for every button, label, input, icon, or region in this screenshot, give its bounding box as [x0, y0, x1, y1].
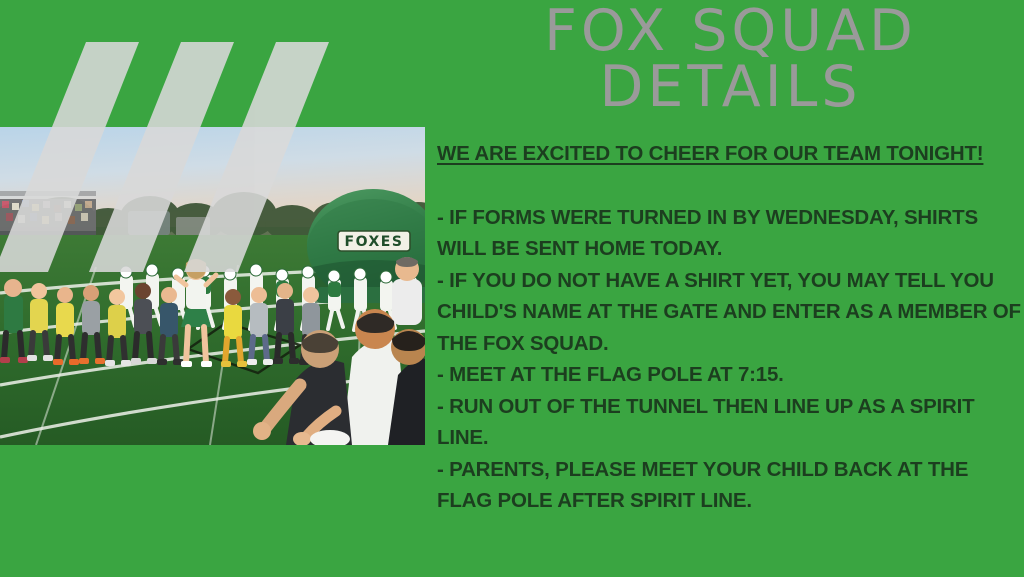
poster-canvas: FOXES	[0, 0, 1024, 577]
photo-illustration: FOXES	[0, 127, 425, 445]
detail-item-2: - IF YOU DO NOT HAVE A SHIRT YET, YOU MA…	[437, 265, 1024, 360]
details-list: - IF FORMS WERE TURNED IN BY WEDNESDAY, …	[437, 202, 1024, 517]
page-title: FOX SQUAD DETAILS	[437, 0, 1024, 116]
poster-content: FOX SQUAD DETAILS WE ARE EXCITED TO CHEE…	[437, 0, 1024, 577]
detail-item-3: - MEET AT THE FLAG POLE AT 7:15.	[437, 359, 1024, 391]
detail-item-4: - RUN OUT OF THE TUNNEL THEN LINE UP AS …	[437, 391, 1024, 454]
spirit-line-photo: FOXES	[0, 127, 425, 445]
svg-text:FOXES: FOXES	[345, 234, 404, 250]
detail-item-5: - PARENTS, PLEASE MEET YOUR CHILD BACK A…	[437, 454, 1024, 517]
headline-text: WE ARE EXCITED TO CHEER FOR OUR TEAM TON…	[437, 142, 1024, 166]
detail-item-1: - IF FORMS WERE TURNED IN BY WEDNESDAY, …	[437, 202, 1024, 265]
